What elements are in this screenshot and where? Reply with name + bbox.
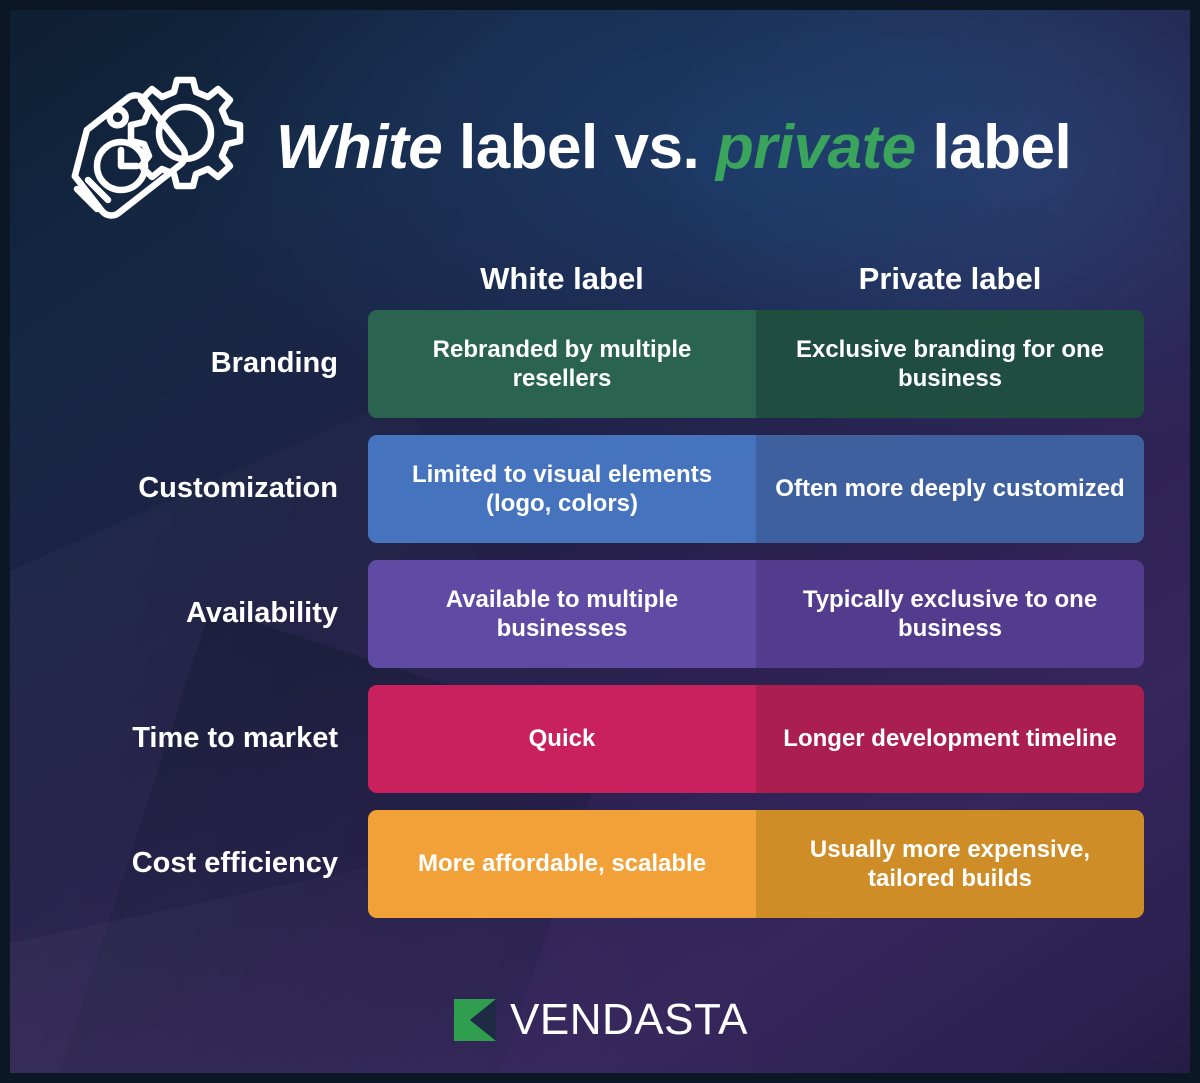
header: White label vs. private label — [0, 58, 1200, 238]
title-part-label-end: label — [916, 113, 1072, 182]
cell-cost-efficiency-white-label: More affordable, scalable — [368, 810, 756, 918]
infographic-root: White label vs. private label White labe… — [0, 0, 1200, 1083]
price-tag-clock-gear-icon — [44, 68, 254, 233]
cell-cost-efficiency-private-label: Usually more expensive, tailored builds — [756, 810, 1144, 918]
row-cells-cost-efficiency: More affordable, scalable Usually more e… — [368, 810, 1144, 918]
title-part-private: private — [716, 113, 916, 182]
table-row: Cost efficiency More affordable, scalabl… — [0, 810, 1200, 918]
footer-logo: VENDASTA — [0, 995, 1200, 1045]
cell-customization-private-label: Often more deeply customized — [756, 435, 1144, 543]
table-column-headers: White label Private label — [0, 248, 1200, 310]
table-row: Time to market Quick Longer development … — [0, 685, 1200, 793]
vendasta-logo-mark — [452, 997, 498, 1043]
row-cells-time-to-market: Quick Longer development timeline — [368, 685, 1144, 793]
table-row: Availability Available to multiple busin… — [0, 560, 1200, 668]
title-part-white: White — [276, 113, 442, 182]
cell-time-to-market-white-label: Quick — [368, 685, 756, 793]
table-row: Customization Limited to visual elements… — [0, 435, 1200, 543]
table-row: Branding Rebranded by multiple resellers… — [0, 310, 1200, 418]
cell-branding-white-label: Rebranded by multiple resellers — [368, 310, 756, 418]
cell-time-to-market-private-label: Longer development timeline — [756, 685, 1144, 793]
page-title: White label vs. private label — [276, 115, 1071, 180]
column-header-white-label: White label — [368, 261, 756, 297]
cell-customization-white-label: Limited to visual elements (logo, colors… — [368, 435, 756, 543]
row-label-cost-efficiency: Cost efficiency — [0, 847, 368, 880]
comparison-table: White label Private label Branding Rebra… — [0, 248, 1200, 935]
row-label-customization: Customization — [0, 472, 368, 505]
row-label-availability: Availability — [0, 597, 368, 630]
row-cells-customization: Limited to visual elements (logo, colors… — [368, 435, 1144, 543]
cell-branding-private-label: Exclusive branding for one business — [756, 310, 1144, 418]
title-part-label-vs: label vs. — [442, 113, 716, 182]
row-cells-availability: Available to multiple businesses Typical… — [368, 560, 1144, 668]
column-header-private-label: Private label — [756, 261, 1144, 297]
row-label-branding: Branding — [0, 347, 368, 380]
row-label-time-to-market: Time to market — [0, 722, 368, 755]
row-cells-branding: Rebranded by multiple resellers Exclusiv… — [368, 310, 1144, 418]
cell-availability-white-label: Available to multiple businesses — [368, 560, 756, 668]
cell-availability-private-label: Typically exclusive to one business — [756, 560, 1144, 668]
vendasta-wordmark: VENDASTA — [510, 995, 748, 1045]
